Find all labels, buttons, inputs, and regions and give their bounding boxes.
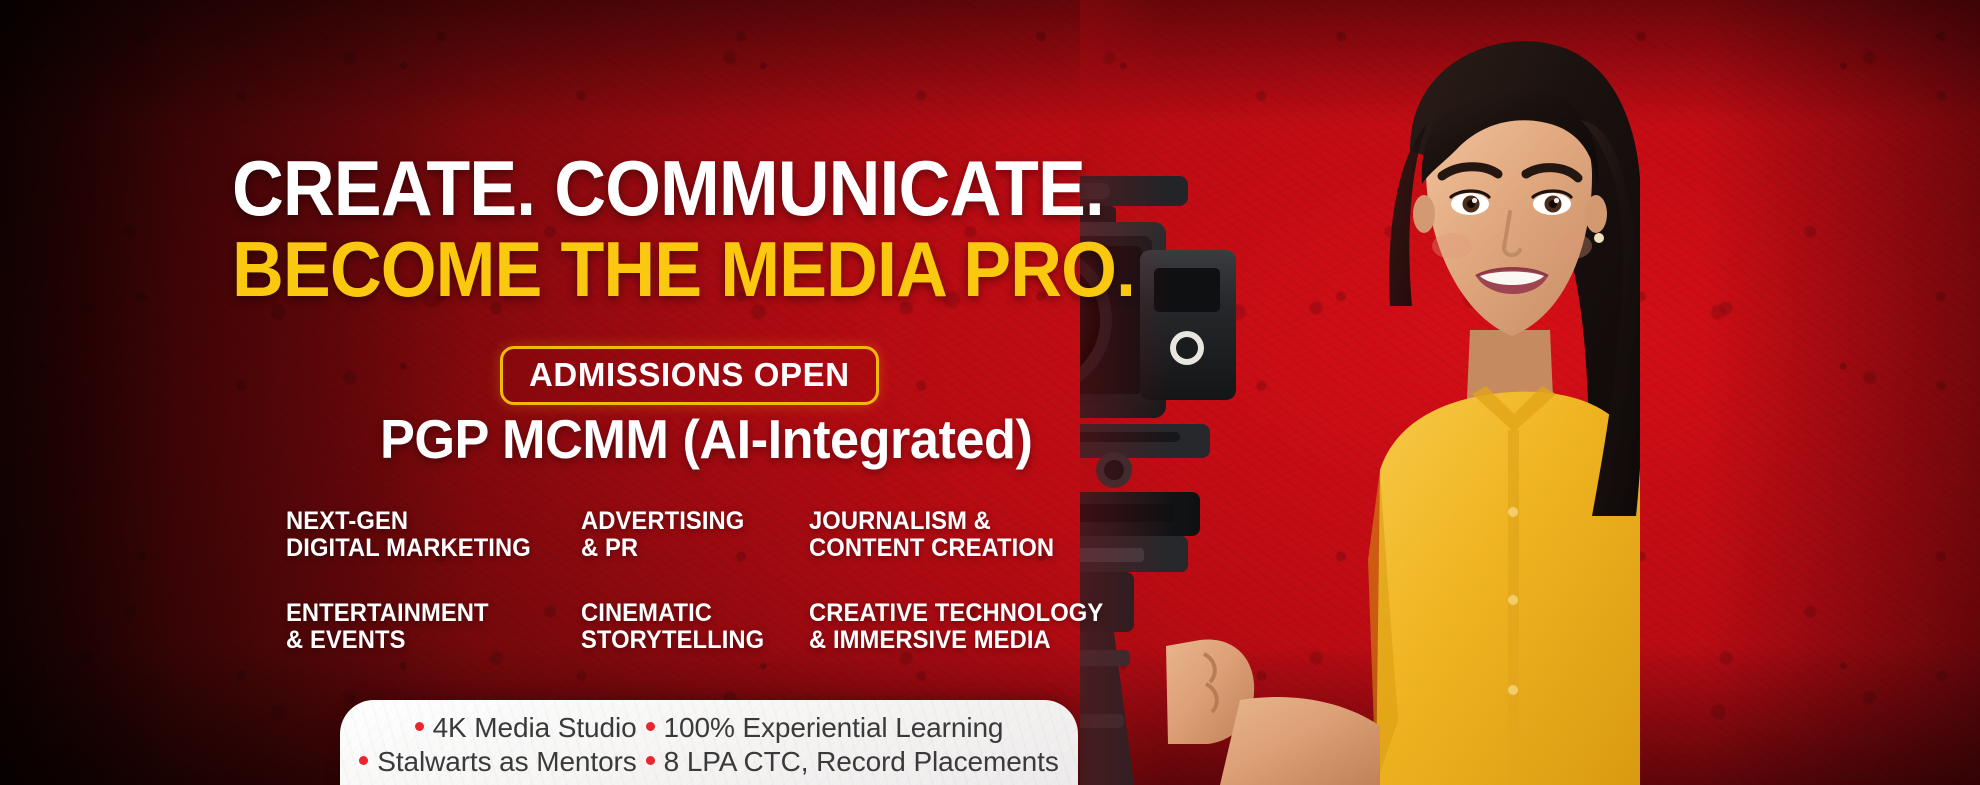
program-title: PGP MCMM (AI-Integrated)	[380, 412, 1032, 467]
promo-banner: CREATE. COMMUNICATE. BECOME THE MEDIA PR…	[0, 0, 1980, 785]
highlight-item: 100% Experiential Learning	[646, 711, 1004, 745]
stream-item-entertainment-events: ENTERTAINMENT & EVENTS	[286, 600, 566, 654]
highlight-item: 8 LPA CTC, Record Placements	[646, 745, 1059, 779]
highlights-row-2: Stalwarts as Mentors 8 LPA CTC, Record P…	[359, 745, 1059, 779]
stream-line-2: DIGITAL MARKETING	[286, 535, 566, 562]
stream-line-1: ENTERTAINMENT	[286, 600, 566, 627]
stream-item-advertising-pr: ADVERTISING & PR	[581, 508, 798, 562]
bullet-dot-icon	[415, 722, 424, 731]
admissions-badge-wrap: ADMISSIONS OPEN	[500, 346, 879, 405]
highlight-item: Stalwarts as Mentors	[359, 745, 636, 779]
stream-line-2: CONTENT CREATION	[809, 535, 1103, 562]
stream-line-1: ADVERTISING	[581, 508, 798, 535]
stream-item-journalism: JOURNALISM & CONTENT CREATION	[809, 508, 1103, 562]
stream-line-2: & IMMERSIVE MEDIA	[809, 627, 1103, 654]
stream-line-2: STORYTELLING	[581, 627, 798, 654]
highlight-label: 8 LPA CTC, Record Placements	[664, 745, 1059, 779]
bullet-dot-icon	[646, 756, 655, 765]
stream-item-cinematic-storytelling: CINEMATIC STORYTELLING	[581, 600, 798, 654]
admissions-open-badge[interactable]: ADMISSIONS OPEN	[500, 346, 879, 405]
hero-photo	[1080, 0, 1640, 785]
headline-line-2: BECOME THE MEDIA PRO.	[232, 233, 1152, 306]
highlight-label: Stalwarts as Mentors	[377, 745, 636, 779]
highlight-item: 4K Media Studio	[415, 711, 637, 745]
headline-line-1: CREATE. COMMUNICATE.	[232, 152, 1152, 225]
stream-line-1: JOURNALISM &	[809, 508, 1103, 535]
highlight-label: 100% Experiential Learning	[664, 711, 1004, 745]
stream-line-1: NEXT-GEN	[286, 508, 566, 535]
highlight-label: 4K Media Studio	[433, 711, 637, 745]
stream-item-digital-marketing: NEXT-GEN DIGITAL MARKETING	[286, 508, 566, 562]
stream-line-2: & EVENTS	[286, 627, 566, 654]
bullet-dot-icon	[359, 756, 368, 765]
stream-item-creative-technology: CREATIVE TECHNOLOGY & IMMERSIVE MEDIA	[809, 600, 1103, 654]
highlights-card: 4K Media Studio 100% Experiential Learni…	[340, 700, 1078, 785]
headline: CREATE. COMMUNICATE. BECOME THE MEDIA PR…	[232, 152, 1232, 305]
stream-grid: NEXT-GEN DIGITAL MARKETING ADVERTISING &…	[286, 508, 1119, 654]
stream-line-1: CREATIVE TECHNOLOGY	[809, 600, 1103, 627]
bullet-dot-icon	[646, 722, 655, 731]
highlights-row-1: 4K Media Studio 100% Experiential Learni…	[415, 711, 1004, 745]
stream-line-1: CINEMATIC	[581, 600, 798, 627]
stream-line-2: & PR	[581, 535, 798, 562]
banner-content: CREATE. COMMUNICATE. BECOME THE MEDIA PR…	[0, 0, 1160, 785]
